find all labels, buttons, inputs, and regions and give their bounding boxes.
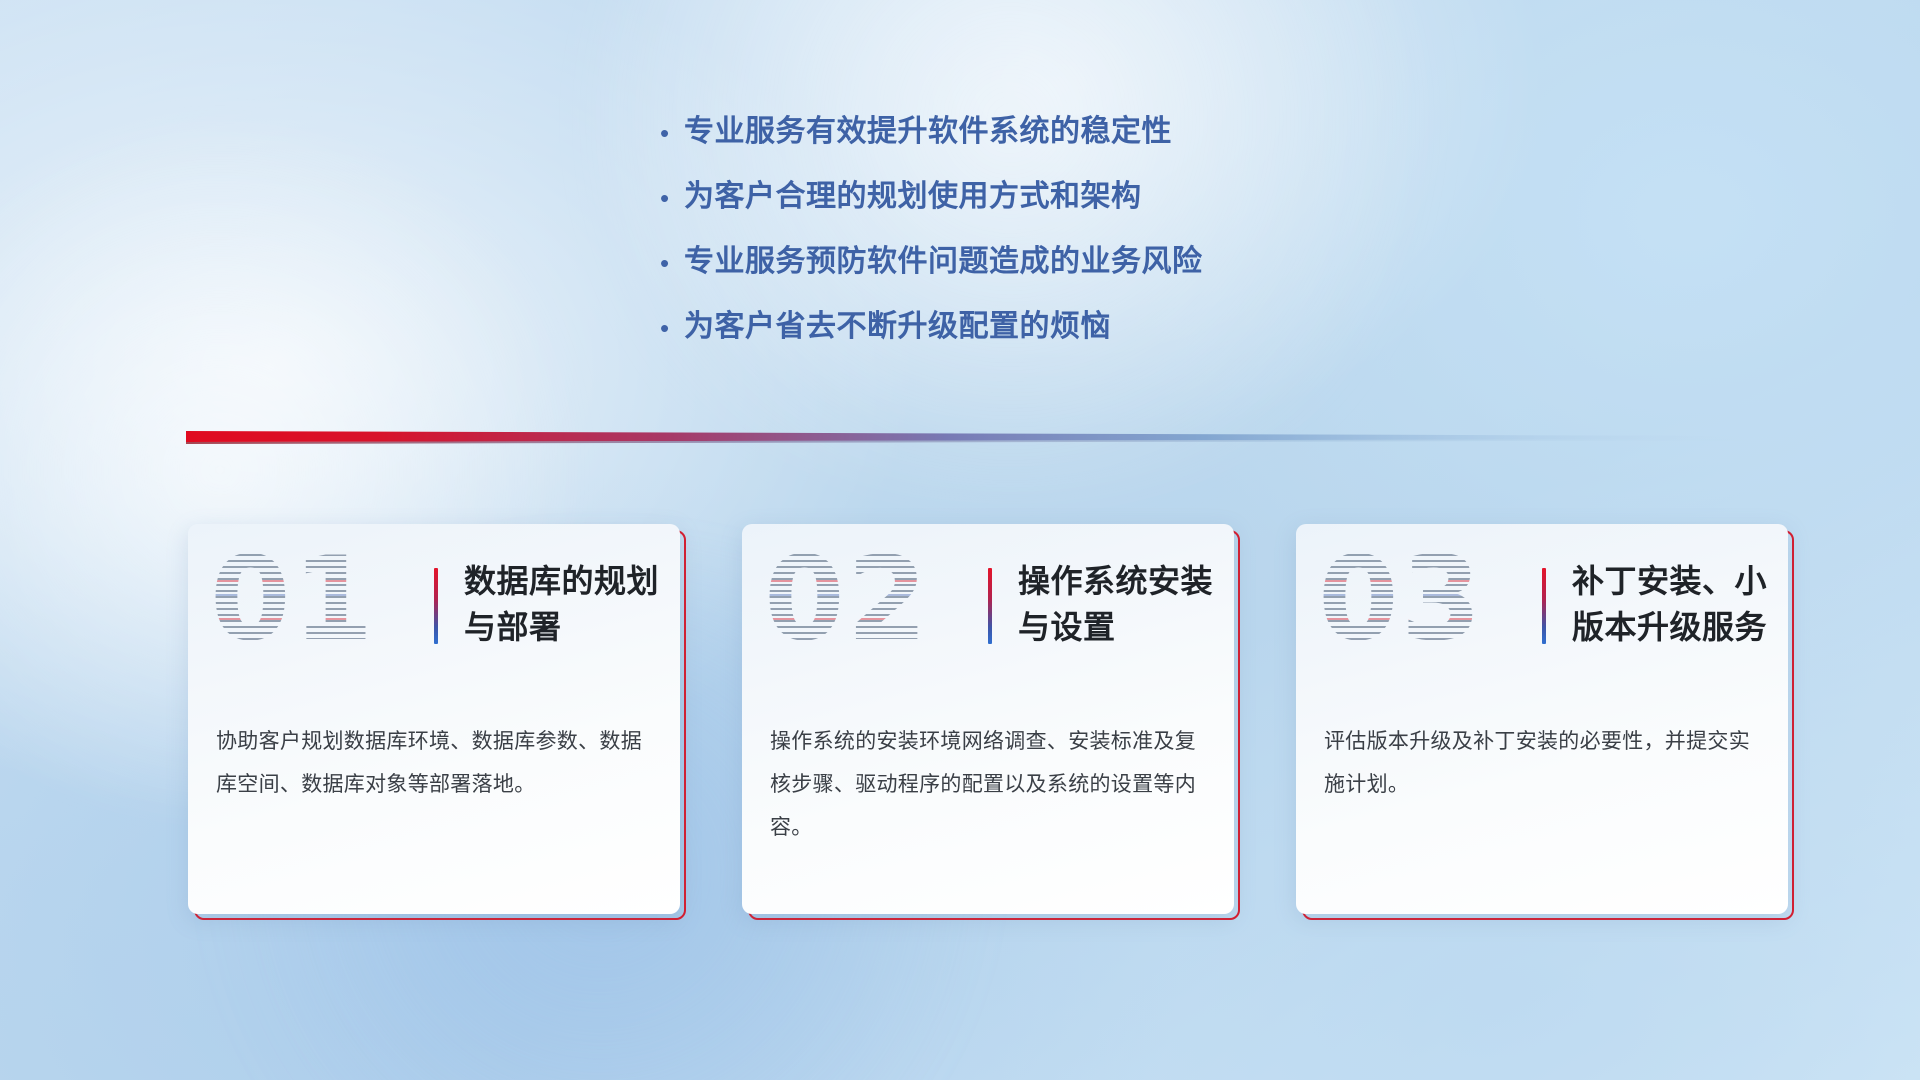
card-face: 02 操作系统安装与设置 操作系统的安装环境网络调查、安装标准及复核步骤、驱动程…: [742, 524, 1234, 914]
card-description: 协助客户规划数据库环境、数据库参数、数据库空间、数据库对象等部署落地。: [216, 720, 654, 806]
list-item: • 为客户省去不断升级配置的烦恼: [660, 307, 1560, 372]
bullet-text: 为客户省去不断升级配置的烦恼: [684, 307, 1111, 347]
bullet-text: 为客户合理的规划使用方式和架构: [684, 177, 1142, 217]
card-number-watermark: 01: [210, 542, 375, 658]
service-card-03[interactable]: 03 补丁安装、小版本升级服务 评估版本升级及补丁安装的必要性，并提交实施计划。: [1296, 524, 1788, 914]
card-title-accent-bar: [1542, 568, 1546, 644]
bullet-text: 专业服务有效提升软件系统的稳定性: [684, 112, 1172, 152]
card-face: 01 数据库的规划与部署 协助客户规划数据库环境、数据库参数、数据库空间、数据库…: [188, 524, 680, 914]
card-title-accent-bar: [434, 568, 438, 644]
benefits-bullet-list: • 专业服务有效提升软件系统的稳定性 • 为客户合理的规划使用方式和架构 • 专…: [660, 112, 1560, 372]
card-title: 补丁安装、小版本升级服务: [1572, 558, 1772, 650]
card-header: 02 操作系统安装与设置: [742, 524, 1234, 692]
card-description: 操作系统的安装环境网络调查、安装标准及复核步骤、驱动程序的配置以及系统的设置等内…: [770, 720, 1208, 849]
service-card-row: 01 数据库的规划与部署 协助客户规划数据库环境、数据库参数、数据库空间、数据库…: [188, 524, 1788, 914]
slide-canvas: • 专业服务有效提升软件系统的稳定性 • 为客户合理的规划使用方式和架构 • 专…: [0, 0, 1920, 1080]
card-header: 03 补丁安装、小版本升级服务: [1296, 524, 1788, 692]
section-divider: [186, 428, 1778, 448]
card-face: 03 补丁安装、小版本升级服务 评估版本升级及补丁安装的必要性，并提交实施计划。: [1296, 524, 1788, 914]
bullet-dot-icon: •: [660, 178, 684, 218]
bullet-dot-icon: •: [660, 243, 684, 283]
service-card-02[interactable]: 02 操作系统安装与设置 操作系统的安装环境网络调查、安装标准及复核步骤、驱动程…: [742, 524, 1234, 914]
divider-wedge-shape: [186, 428, 1778, 448]
bullet-dot-icon: •: [660, 308, 684, 348]
list-item: • 专业服务预防软件问题造成的业务风险: [660, 242, 1560, 307]
card-header: 01 数据库的规划与部署: [188, 524, 680, 692]
card-description: 评估版本升级及补丁安装的必要性，并提交实施计划。: [1324, 720, 1762, 806]
card-number-watermark: 03: [1318, 542, 1483, 658]
list-item: • 为客户合理的规划使用方式和架构: [660, 177, 1560, 242]
bullet-dot-icon: •: [660, 113, 684, 153]
card-title: 操作系统安装与设置: [1018, 558, 1218, 650]
service-card-01[interactable]: 01 数据库的规划与部署 协助客户规划数据库环境、数据库参数、数据库空间、数据库…: [188, 524, 680, 914]
bullet-text: 专业服务预防软件问题造成的业务风险: [684, 242, 1203, 282]
card-title: 数据库的规划与部署: [464, 558, 664, 650]
card-title-accent-bar: [988, 568, 992, 644]
list-item: • 专业服务有效提升软件系统的稳定性: [660, 112, 1560, 177]
card-number-watermark: 02: [764, 542, 929, 658]
